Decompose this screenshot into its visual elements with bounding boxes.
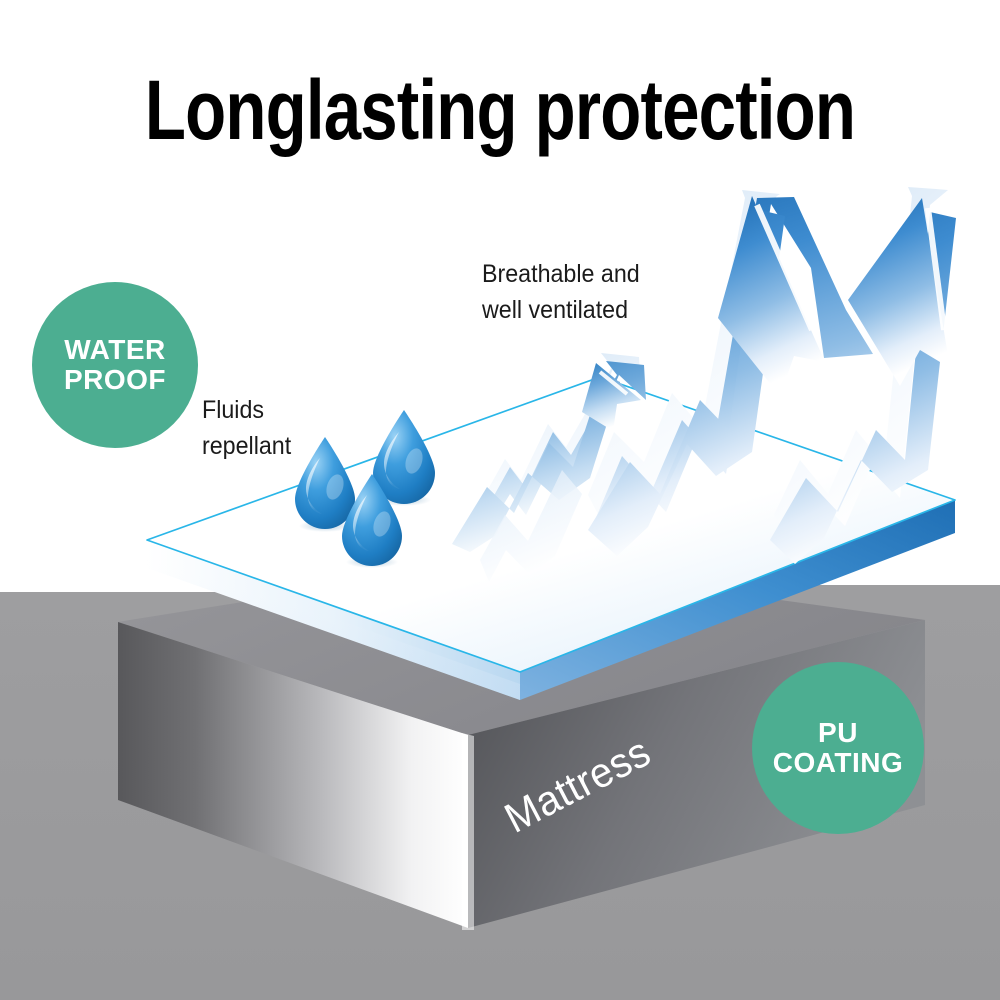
badge-pu-coating[interactable]: PU COATING — [752, 662, 924, 834]
water-droplet — [295, 437, 355, 532]
callout-fluids-repellant: Fluids repellant — [202, 392, 291, 464]
mattress-protector-illustration — [0, 0, 1000, 1000]
badge-pu-coating-label: PU COATING — [773, 718, 904, 778]
badge-water-proof-label: WATER PROOF — [64, 335, 166, 395]
infographic-canvas: Longlasting protection — [0, 0, 1000, 1000]
callout-breathable-ventilated: Breathable and well ventilated — [482, 256, 640, 328]
badge-water-proof[interactable]: WATER PROOF — [32, 282, 198, 448]
